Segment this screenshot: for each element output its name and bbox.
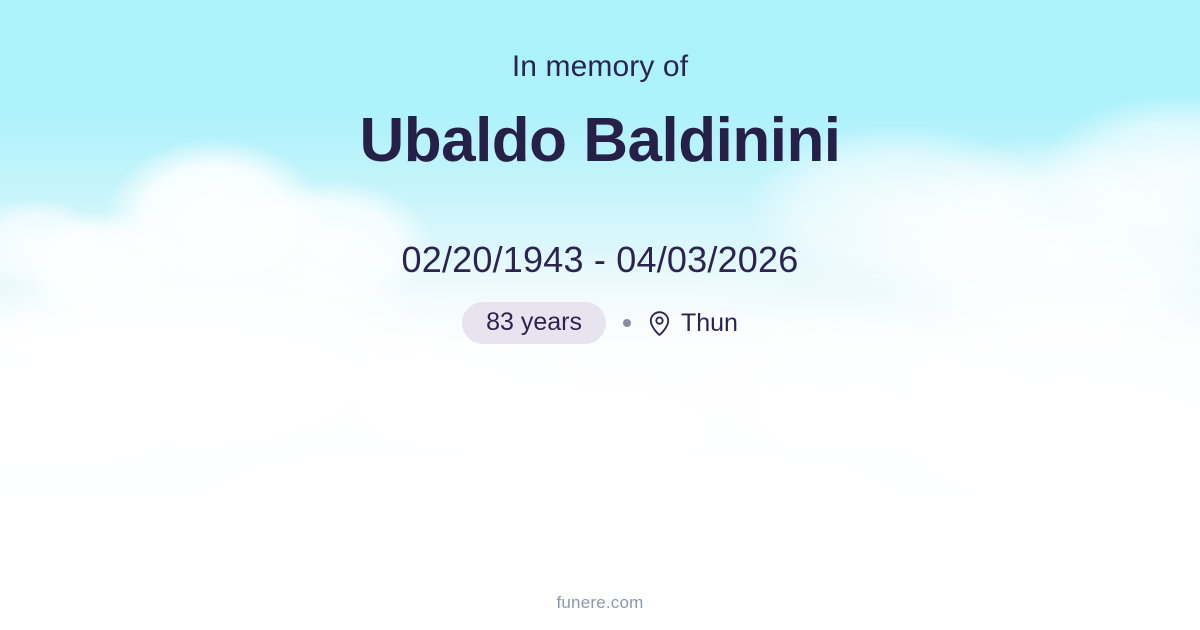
deceased-name: Ubaldo Baldinini	[359, 107, 840, 175]
meta-row: 83 years Thun	[462, 302, 738, 344]
life-dates: 02/20/1943 - 04/03/2026	[402, 238, 799, 281]
location-name: Thun	[681, 308, 738, 338]
site-footer: funere.com	[0, 593, 1200, 613]
memorial-content: In memory of Ubaldo Baldinini 02/20/1943…	[0, 0, 1200, 630]
map-pin-icon	[648, 310, 671, 337]
separator-dot-icon	[623, 319, 631, 327]
age-badge: 83 years	[462, 302, 606, 344]
location-group: Thun	[648, 308, 738, 338]
memorial-card: In memory of Ubaldo Baldinini 02/20/1943…	[0, 0, 1200, 630]
in-memory-of-label: In memory of	[512, 48, 688, 86]
